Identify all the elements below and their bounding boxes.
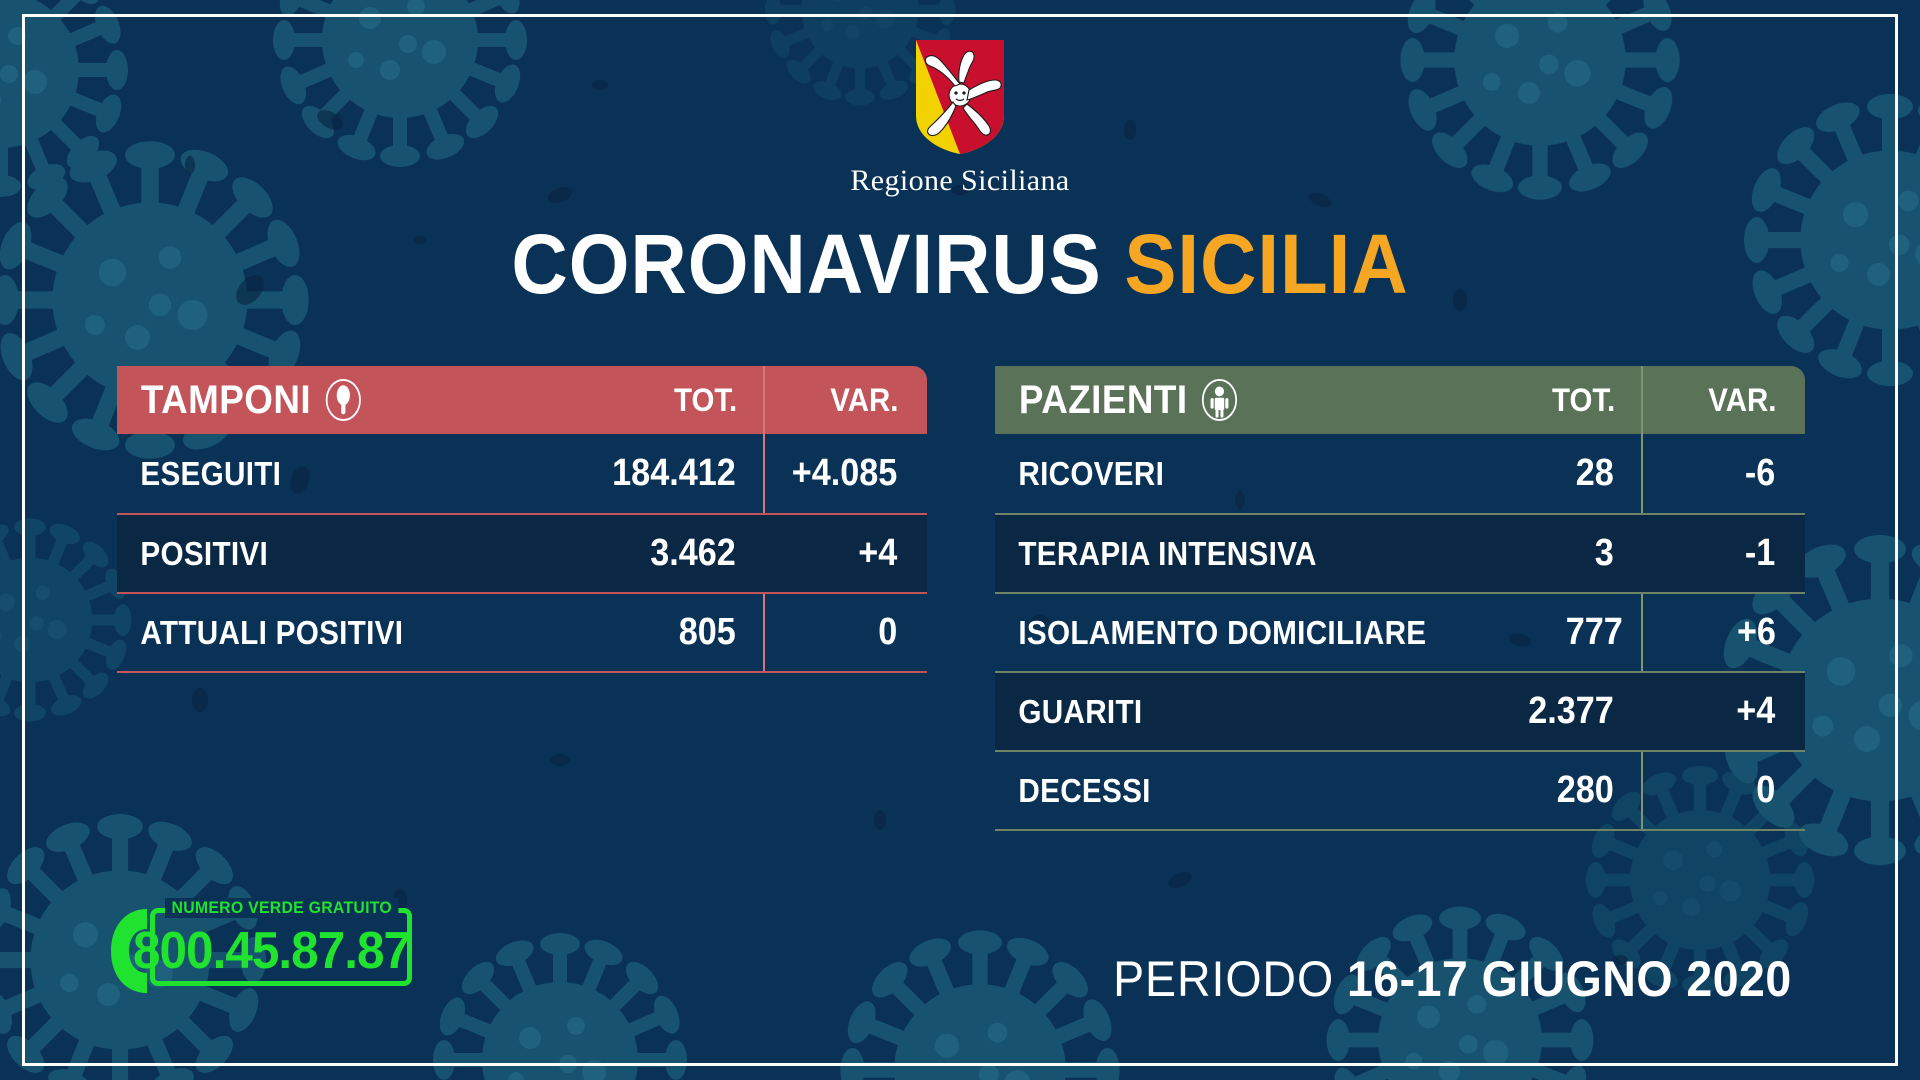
tamponi-header-label: TAMPONI (141, 378, 311, 423)
row-label: ATTUALI POSITIVI (117, 614, 531, 652)
table-row: ATTUALI POSITIVI 805 0 (117, 592, 927, 671)
row-variation: -6 (1651, 452, 1797, 495)
row-total: 2.377 (1464, 690, 1633, 733)
infographic-poster: Regione Siciliana CORONAVIRUS SICILIA TA… (0, 0, 1920, 1080)
pazienti-table: PAZIENTI TOT. VAR. (995, 366, 1805, 831)
row-variation: +4.085 (773, 452, 919, 495)
page-title: CORONAVIRUS SICILIA (67, 222, 1853, 306)
region-name: Regione Siciliana (0, 164, 1920, 198)
pazienti-header-title: PAZIENTI (995, 378, 1418, 423)
table-row: GUARITI 2.377 +4 (995, 671, 1805, 750)
tamponi-col-tot: TOT. (585, 382, 758, 419)
period-value: 16-17 GIUGNO 2020 (1347, 951, 1792, 1007)
pazienti-table-body: RICOVERI 28 -6 TERAPIA INTENSIVA 3 -1 IS… (995, 434, 1805, 831)
table-row: ISOLAMENTO DOMICILIARE 777 +6 (995, 592, 1805, 671)
row-total: 777 (1483, 611, 1643, 654)
row-total: 184.412 (586, 452, 755, 495)
column-divider (763, 366, 765, 434)
title-sicilia: SICILIA (1124, 217, 1408, 311)
hotline-number[interactable]: 800.45.87.87 (133, 921, 410, 981)
hotline-box: NUMERO VERDE GRATUITO 800.45.87.87 (150, 908, 412, 986)
row-label: ISOLAMENTO DOMICILIARE (995, 614, 1426, 652)
row-variation: +4 (1651, 690, 1797, 733)
table-row: RICOVERI 28 -6 (995, 434, 1805, 513)
row-label: GUARITI (995, 693, 1409, 731)
row-label: DECESSI (995, 772, 1409, 810)
table-row: DECESSI 280 0 (995, 750, 1805, 829)
table-row: POSITIVI 3.462 +4 (117, 513, 927, 592)
trinacria-coat-of-arms-icon (912, 38, 1008, 156)
row-label: ESEGUITI (117, 455, 531, 493)
person-icon (1200, 379, 1239, 421)
column-divider (1641, 366, 1643, 434)
pazienti-col-var: VAR. (1649, 382, 1798, 419)
tamponi-header-title: TAMPONI (117, 378, 540, 423)
row-label: TERAPIA INTENSIVA (995, 535, 1409, 573)
hotline-label: NUMERO VERDE GRATUITO (165, 898, 399, 918)
table-row: TERAPIA INTENSIVA 3 -1 (995, 513, 1805, 592)
row-total: 28 (1464, 452, 1633, 495)
pazienti-header-label: PAZIENTI (1019, 378, 1188, 423)
period-label: PERIODO (1113, 951, 1334, 1007)
row-total: 3.462 (586, 532, 755, 575)
row-label: RICOVERI (995, 455, 1409, 493)
tamponi-table-body: ESEGUITI 184.412 +4.085 POSITIVI 3.462 +… (117, 434, 927, 673)
row-variation: +4 (773, 532, 919, 575)
row-variation: 0 (773, 611, 919, 654)
tamponi-table-header: TAMPONI TOT. VAR. (117, 366, 927, 434)
period-line: PERIODO 16-17 GIUGNO 2020 (1113, 950, 1792, 1008)
table-row: ESEGUITI 184.412 +4.085 (117, 434, 927, 513)
row-variation: +6 (1659, 611, 1797, 654)
tamponi-col-var: VAR. (771, 382, 920, 419)
row-variation: -1 (1651, 532, 1797, 575)
row-variation: 0 (1651, 769, 1797, 812)
row-total: 280 (1464, 769, 1633, 812)
pazienti-col-tot: TOT. (1463, 382, 1636, 419)
tamponi-table: TAMPONI TOT. VAR. ESEGUITI 184.412 +4.08… (117, 366, 927, 673)
row-total: 3 (1464, 532, 1633, 575)
row-label: POSITIVI (117, 535, 531, 573)
row-total: 805 (586, 611, 755, 654)
poster-header: Regione Siciliana CORONAVIRUS SICILIA (0, 38, 1920, 306)
swab-icon (324, 379, 363, 421)
pazienti-table-header: PAZIENTI TOT. VAR. (995, 366, 1805, 434)
title-coronavirus: CORONAVIRUS (511, 217, 1101, 311)
